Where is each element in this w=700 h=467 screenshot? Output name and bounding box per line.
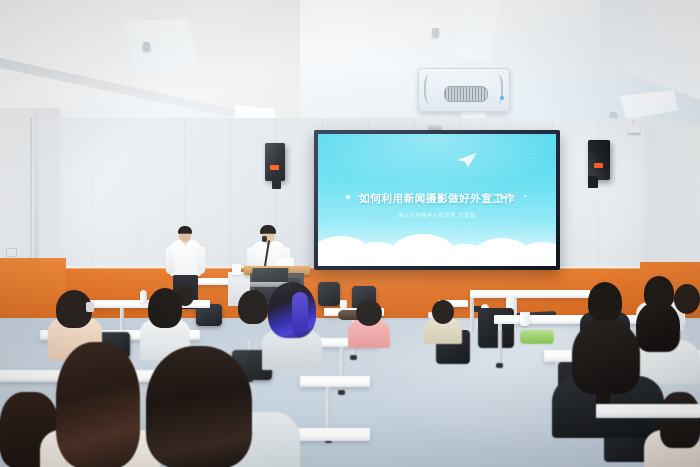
presenter-arm-right [197,246,205,274]
student-hair [588,282,622,322]
eyeglasses-icon [180,233,190,237]
wall-speaker-left [265,143,285,181]
speaker-bracket-left [272,178,281,189]
office-chair [478,308,514,348]
student-hair [148,288,182,328]
microphone [262,236,267,242]
paper-cup [232,264,241,275]
training-desk [470,290,590,298]
slide-subtitle: 湖北办传媒中心摄影部 万善聪 [318,212,556,219]
student-hair [674,284,700,314]
presentation-slide: 如何利用新闻摄影做好外宣工作 湖北办传媒中心摄影部 万善聪 [318,134,556,266]
student-hair [636,302,680,352]
student-hair [56,342,140,467]
training-desk [300,376,370,387]
office-chair [318,282,340,306]
thermos-bottle [140,290,147,303]
presenter-arm-left [166,246,174,274]
training-desk [596,404,700,418]
sprinkler-head [143,42,150,50]
ceiling-camera [628,126,640,133]
desk-leg [498,324,502,364]
student-hair [238,290,268,324]
green-bag [520,330,554,344]
hair-clip [86,302,94,312]
student-hair [660,392,700,448]
ac-vane-left [424,74,435,104]
student-hair [146,346,252,467]
ac-grille [444,86,488,102]
ac-indicator-light [500,96,504,100]
slide-title: 如何利用新闻摄影做好外宣工作 [318,191,556,206]
wall-outlet [6,248,17,257]
projection-screen: 如何利用新闻摄影做好外宣工作 湖北办传媒中心摄影部 万善聪 [314,130,560,270]
desk-caster [350,355,357,360]
speaker-brand-logo [594,163,603,168]
laptop [251,268,288,283]
speaker-bracket-right [588,176,598,188]
student-hair [356,300,382,326]
speaker-brand-logo [270,165,279,170]
paper-cup [520,312,530,326]
sprinkler-head [432,28,439,36]
desk-leg [470,298,474,332]
student-hair [432,300,454,324]
blue-hair-streak [292,292,308,336]
classroom-photo: 如何利用新闻摄影做好外宣工作 湖北办传媒中心摄影部 万善聪 [0,0,700,467]
paper-cup [340,300,347,309]
wall-speaker-right [588,140,610,180]
desk-caster [496,363,503,368]
paper-plane-icon [456,152,478,168]
student-hair [572,320,640,394]
desk-caster [338,390,345,395]
